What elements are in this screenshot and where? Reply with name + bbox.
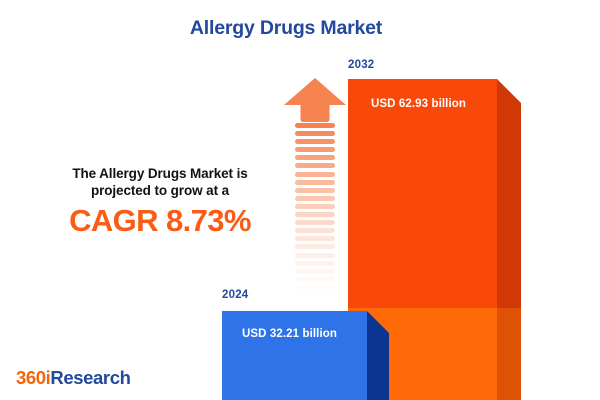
- arrow-stripe-stack: [295, 123, 335, 293]
- cagr-value: CAGR 8.73%: [46, 204, 274, 238]
- bar-2032-value-label: USD 62.93 billion: [371, 98, 466, 110]
- brand-logo: 360iResearch: [16, 367, 131, 389]
- arrow-stripe: [295, 236, 335, 241]
- arrow-stripe: [295, 147, 335, 152]
- arrow-stripe: [295, 180, 335, 185]
- bar-2024-front-face: [222, 311, 367, 400]
- infographic-canvas: Allergy Drugs Market The Allergy Drugs M…: [0, 0, 600, 400]
- arrow-head-icon: [284, 78, 346, 122]
- arrow-stripe: [295, 285, 335, 290]
- page-title: Allergy Drugs Market: [0, 17, 572, 40]
- arrow-stripe: [295, 196, 335, 201]
- bar-2032-front-face: [348, 79, 497, 308]
- bar-2024-side-face: [367, 311, 389, 400]
- bar-2032-side-face: [497, 79, 521, 400]
- year-label-2032: 2032: [348, 59, 374, 71]
- arrow-stripe: [295, 277, 335, 282]
- arrow-stripe: [295, 172, 335, 177]
- cagr-lead-line-1: The Allergy Drugs Market is: [46, 165, 274, 182]
- logo-segment-research: Research: [50, 367, 130, 388]
- arrow-stripe: [295, 269, 335, 274]
- arrow-stripe: [295, 123, 335, 128]
- arrow-stripe: [295, 155, 335, 160]
- arrow-stripe: [295, 188, 335, 193]
- year-label-2024: 2024: [222, 289, 248, 301]
- arrow-stripe: [295, 301, 335, 306]
- arrow-stripe: [295, 261, 335, 266]
- arrow-stripe: [295, 220, 335, 225]
- up-arrow-growth-icon: [284, 78, 346, 293]
- arrow-stripe: [295, 163, 335, 168]
- bar-2024-value-label: USD 32.21 billion: [242, 328, 337, 340]
- arrow-stripe: [295, 253, 335, 258]
- arrow-stripe: [295, 139, 335, 144]
- arrow-stripe: [295, 131, 335, 136]
- cagr-lead-line-2: projected to grow at a: [46, 182, 274, 199]
- arrow-stripe: [295, 228, 335, 233]
- arrow-stripe: [295, 204, 335, 209]
- cagr-callout: The Allergy Drugs Market is projected to…: [46, 165, 274, 238]
- arrow-stripe: [295, 293, 335, 298]
- arrow-stripe: [295, 244, 335, 249]
- arrow-stripe: [295, 212, 335, 217]
- logo-segment-360: 360: [16, 367, 46, 388]
